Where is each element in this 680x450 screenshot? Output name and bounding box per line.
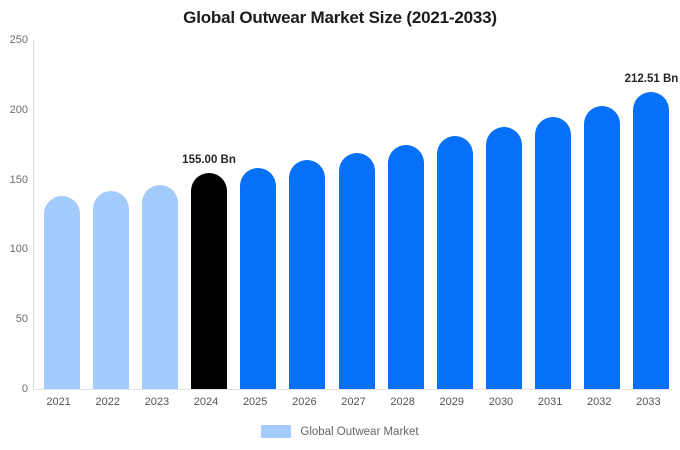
x-axis-tick-label-2031: 2031 — [526, 396, 575, 408]
x-axis-tick-label-2024: 2024 — [181, 396, 230, 408]
y-axis-tick-labels: 050100150200250 — [0, 0, 28, 450]
x-axis-tick-label-2032: 2032 — [575, 396, 624, 408]
y-axis-tick-label: 0 — [2, 383, 28, 395]
y-axis-tick-label: 150 — [2, 174, 28, 186]
bar-2025[interactable] — [240, 168, 276, 389]
x-axis-tick-label-2021: 2021 — [34, 396, 83, 408]
y-axis-tick-label: 50 — [2, 313, 28, 325]
bar-2033[interactable] — [633, 92, 669, 389]
bar-value-label-2024: 155.00 Bn — [182, 154, 236, 166]
x-axis-tick-label-2027: 2027 — [329, 396, 378, 408]
bar-2030[interactable] — [486, 127, 522, 389]
y-axis-tick-label: 100 — [2, 243, 28, 255]
x-axis-tick-label-2022: 2022 — [83, 396, 132, 408]
bar-2021[interactable] — [44, 196, 80, 389]
x-axis-tick-label-2033: 2033 — [624, 396, 673, 408]
bar-2028[interactable] — [388, 145, 424, 389]
bar-2023[interactable] — [142, 185, 178, 390]
bar-2027[interactable] — [339, 153, 375, 389]
x-axis-tick-label-2023: 2023 — [132, 396, 181, 408]
bar-2032[interactable] — [584, 106, 620, 389]
legend-label[interactable]: Global Outwear Market — [300, 426, 418, 438]
bar-slot — [240, 40, 276, 389]
bar-slot: 212.51 Bn — [633, 40, 669, 389]
bar-slot — [289, 40, 325, 389]
bar-slot — [437, 40, 473, 389]
chart-title: Global Outwear Market Size (2021-2033) — [0, 8, 680, 28]
y-axis-tick-label: 250 — [2, 34, 28, 46]
bar-2022[interactable] — [93, 191, 129, 389]
bar-slot — [584, 40, 620, 389]
bar-slot — [93, 40, 129, 389]
bar-value-label-2033: 212.51 Bn — [625, 73, 679, 85]
bar-2026[interactable] — [289, 160, 325, 389]
bar-slot — [486, 40, 522, 389]
x-axis-tick-label-2028: 2028 — [378, 396, 427, 408]
bar-slot: 155.00 Bn — [191, 40, 227, 389]
plot-area: 155.00 Bn212.51 Bn — [34, 40, 673, 389]
x-axis-tick-label-2030: 2030 — [476, 396, 525, 408]
bar-slot — [535, 40, 571, 389]
x-axis-tick-label-2025: 2025 — [231, 396, 280, 408]
bar-slot — [339, 40, 375, 389]
bar-slot — [388, 40, 424, 389]
x-axis-tick-label-2026: 2026 — [280, 396, 329, 408]
y-axis-tick-label: 200 — [2, 104, 28, 116]
x-axis-tick-label-2029: 2029 — [427, 396, 476, 408]
x-axis-line — [33, 389, 673, 390]
chart-legend: Global Outwear Market — [0, 425, 680, 438]
bar-slot — [142, 40, 178, 389]
legend-swatch — [261, 425, 291, 438]
bar-2024[interactable] — [191, 173, 227, 389]
bar-2029[interactable] — [437, 136, 473, 389]
bar-2031[interactable] — [535, 117, 571, 389]
bar-chart: Global Outwear Market Size (2021-2033) 0… — [0, 0, 680, 450]
bar-slot — [44, 40, 80, 389]
